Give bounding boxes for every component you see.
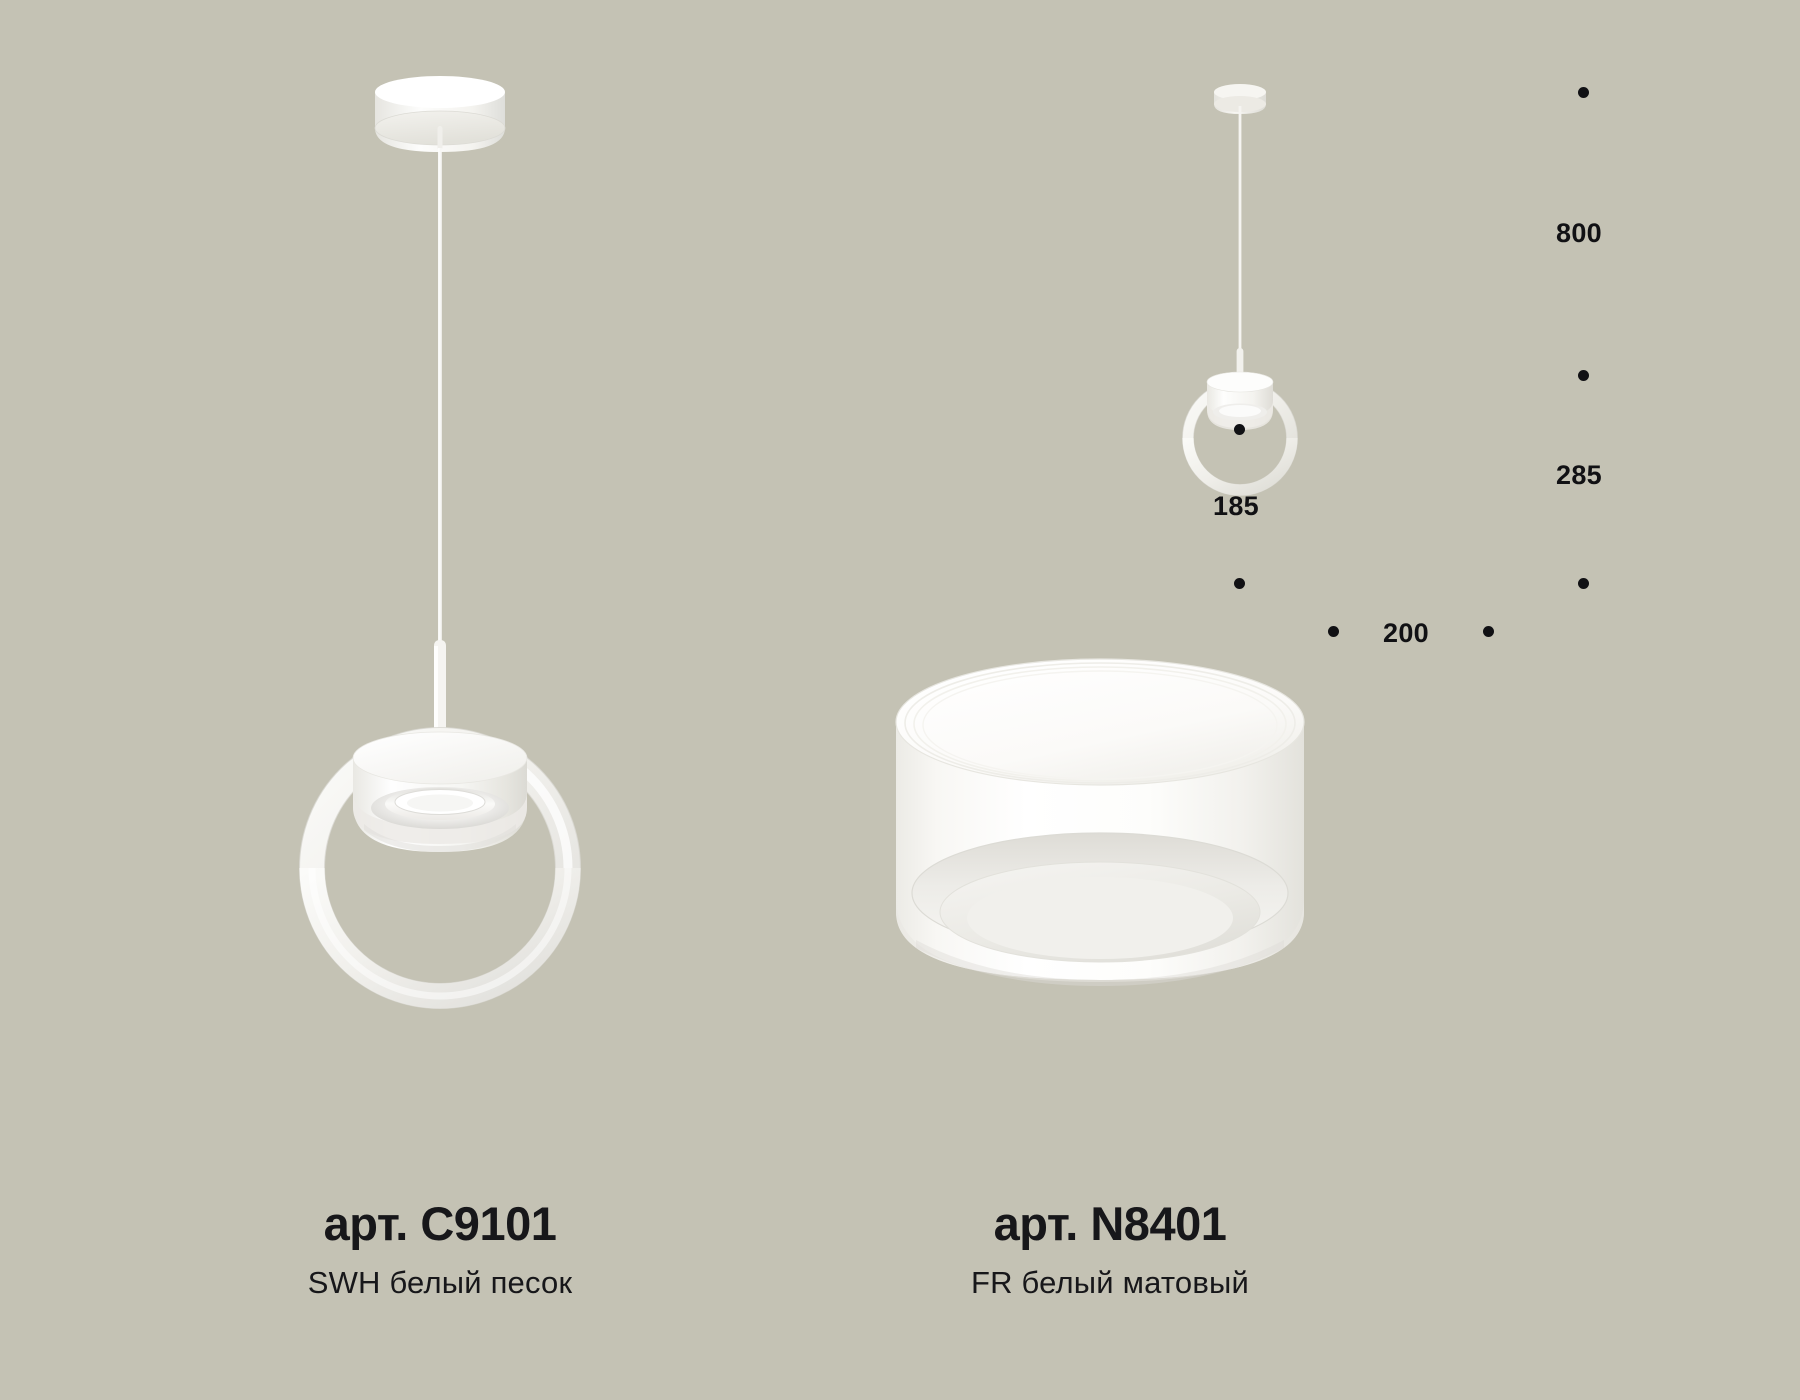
dimension-label-800: 800 <box>1556 218 1602 249</box>
product-article-left: арт. C9101 <box>130 1200 750 1247</box>
diffuser-body-right <box>896 659 1304 986</box>
diagram-ring-front <box>1188 438 1292 490</box>
dimension-diagram-pendant <box>1150 60 1450 660</box>
product-left-illustration <box>230 40 700 1040</box>
dimension-label-285: 285 <box>1556 460 1602 491</box>
dimension-label-200: 200 <box>1383 618 1429 649</box>
dot-285-bottom <box>1578 578 1589 589</box>
diagram-head <box>1207 372 1273 430</box>
product-comparison-canvas: 800 285 185 200 арт. C9101 SWH белый пес… <box>0 0 1800 1400</box>
product-right-illustration <box>880 650 1320 1050</box>
product-finish-right: FR белый матовый <box>800 1267 1420 1298</box>
product-caption-left: арт. C9101 SWH белый песок <box>130 1200 750 1298</box>
dot-800-top <box>1578 87 1589 98</box>
dimension-label-185: 185 <box>1213 491 1259 522</box>
dot-185-top <box>1234 424 1245 435</box>
cable-stem-left <box>434 640 446 740</box>
product-finish-left: SWH белый песок <box>130 1267 750 1298</box>
dot-185-bottom <box>1234 578 1245 589</box>
dot-200-left <box>1328 626 1339 637</box>
spot-head-left <box>353 732 527 852</box>
diagram-cable <box>1237 106 1244 378</box>
suspension-cable-left <box>438 126 443 648</box>
dot-200-right <box>1483 626 1494 637</box>
product-caption-right: арт. N8401 FR белый матовый <box>800 1200 1420 1298</box>
dot-800-bottom <box>1578 370 1589 381</box>
product-article-right: арт. N8401 <box>800 1200 1420 1247</box>
